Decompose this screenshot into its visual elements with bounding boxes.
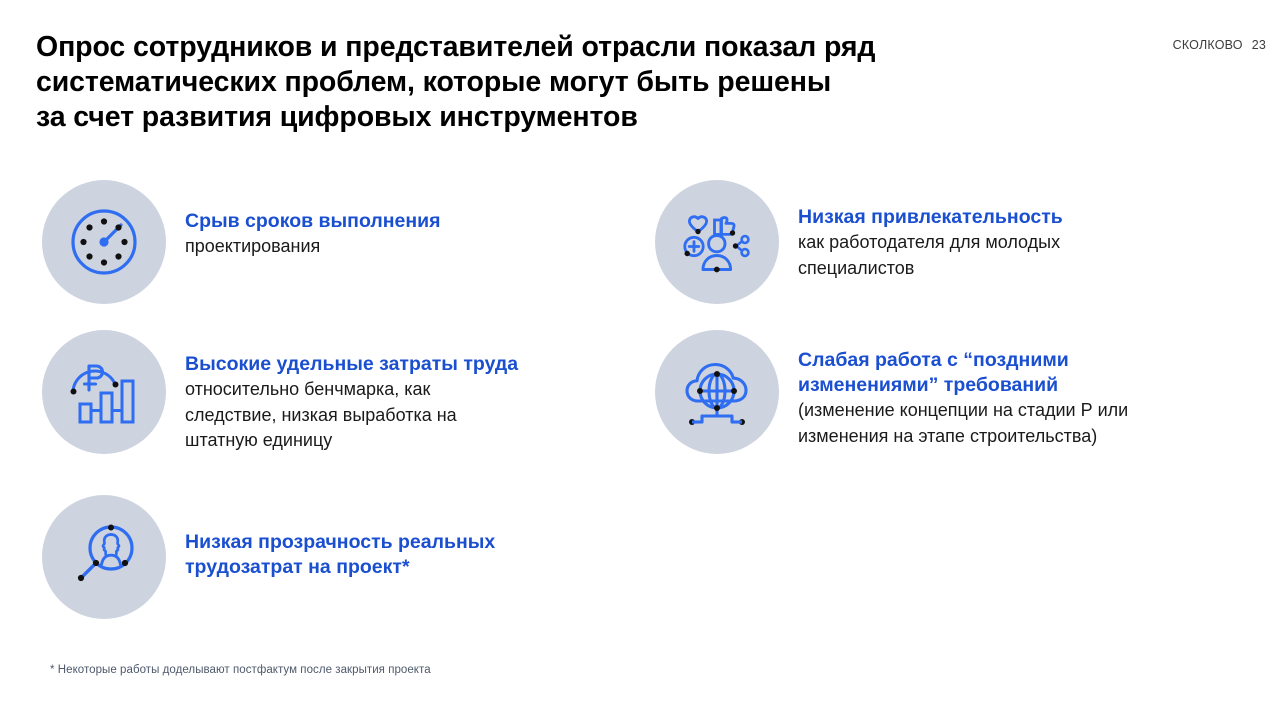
list-item: Низкая прозрачность реальных трудозатрат…	[42, 495, 495, 619]
list-item-text: Слабая работа с “поздними изменениями” т…	[798, 330, 1128, 449]
list-item-subtitle: как работодателя для молодых специалисто…	[798, 230, 1063, 281]
slide-footer-brand: СКОЛКОВО23	[1173, 38, 1266, 52]
clock-icon	[42, 180, 166, 304]
list-item-text: Срыв сроков выполнения проектирования	[185, 180, 441, 260]
list-item: Слабая работа с “поздними изменениями” т…	[655, 330, 1128, 454]
list-item: Низкая привлекательность как работодател…	[655, 180, 1063, 304]
list-item-subtitle: (изменение концепции на стадии Р или изм…	[798, 398, 1128, 449]
list-item-title: Низкая привлекательность	[798, 205, 1063, 230]
footnote: * Некоторые работы доделывают постфактум…	[50, 664, 431, 676]
list-item: Срыв сроков выполнения проектирования	[42, 180, 441, 304]
list-item-subtitle: относительно бенчмарка, как следствие, н…	[185, 377, 518, 454]
list-item-title: Срыв сроков выполнения	[185, 209, 441, 234]
list-item-subtitle: проектирования	[185, 234, 441, 260]
ruble-bar-chart-icon	[42, 330, 166, 454]
list-item-title: Низкая прозрачность реальных трудозатрат…	[185, 530, 495, 580]
magnifier-person-icon	[42, 495, 166, 619]
slide-number: 23	[1252, 38, 1266, 52]
list-item-text: Высокие удельные затраты труда относител…	[185, 330, 518, 454]
slide-header: Опрос сотрудников и представителей отрас…	[0, 0, 1280, 160]
list-item-text: Низкая прозрачность реальных трудозатрат…	[185, 495, 495, 580]
issues-list: Срыв сроков выполнения проектирования	[0, 160, 1280, 640]
list-item-text: Низкая привлекательность как работодател…	[798, 180, 1063, 281]
list-item-title: Слабая работа с “поздними изменениями” т…	[798, 348, 1128, 398]
social-engagement-icon	[655, 180, 779, 304]
cloud-globe-network-icon	[655, 330, 779, 454]
list-item-title: Высокие удельные затраты труда	[185, 352, 518, 377]
page-title: Опрос сотрудников и представителей отрас…	[36, 30, 1016, 135]
brand-label: СКОЛКОВО	[1173, 38, 1243, 52]
list-item: Высокие удельные затраты труда относител…	[42, 330, 518, 454]
